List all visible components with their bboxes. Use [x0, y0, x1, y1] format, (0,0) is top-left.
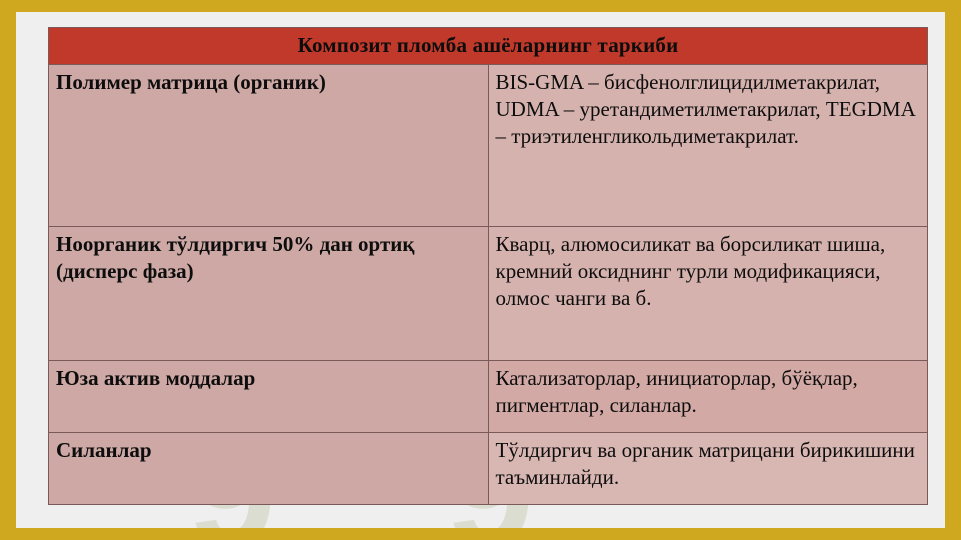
table-title-row: Композит пломба ашёларнинг таркиби: [49, 28, 928, 65]
row-label-inorganic-filler: Ноорганик тўлдиргич 50% дан ортиқ (диспе…: [49, 226, 489, 360]
slide-inner-frame: 9 9 F 9 9 Композит пломба ашёларнинг тар…: [16, 12, 945, 528]
row-label-surfactants: Юза актив моддалар: [49, 360, 489, 432]
row-value-silanes: Тўлдиргич ва органик матрицани бирикишин…: [488, 432, 928, 504]
row-label-polymer-matrix: Полимер матрица (органик): [49, 64, 489, 226]
table-title: Композит пломба ашёларнинг таркиби: [49, 28, 928, 65]
row-value-surfactants: Катализаторлар, инициаторлар, бўёқлар, п…: [488, 360, 928, 432]
slide: 9 9 F 9 9 Композит пломба ашёларнинг тар…: [0, 0, 961, 540]
table-row: Юза актив моддалар Катализаторлар, иници…: [49, 360, 928, 432]
composite-composition-table: Композит пломба ашёларнинг таркиби Полим…: [48, 27, 928, 505]
row-value-polymer-matrix: BIS-GMA – бисфенолглицидилметакрилат, UD…: [488, 64, 928, 226]
row-value-inorganic-filler: Кварц, алюмосиликат ва борсиликат шиша, …: [488, 226, 928, 360]
table-row: Ноорганик тўлдиргич 50% дан ортиқ (диспе…: [49, 226, 928, 360]
row-label-silanes: Силанлар: [49, 432, 489, 504]
composite-table-container: Композит пломба ашёларнинг таркиби Полим…: [48, 27, 928, 505]
table-row: Силанлар Тўлдиргич ва органик матрицани …: [49, 432, 928, 504]
table-row: Полимер матрица (органик) BIS-GMA – бисф…: [49, 64, 928, 226]
